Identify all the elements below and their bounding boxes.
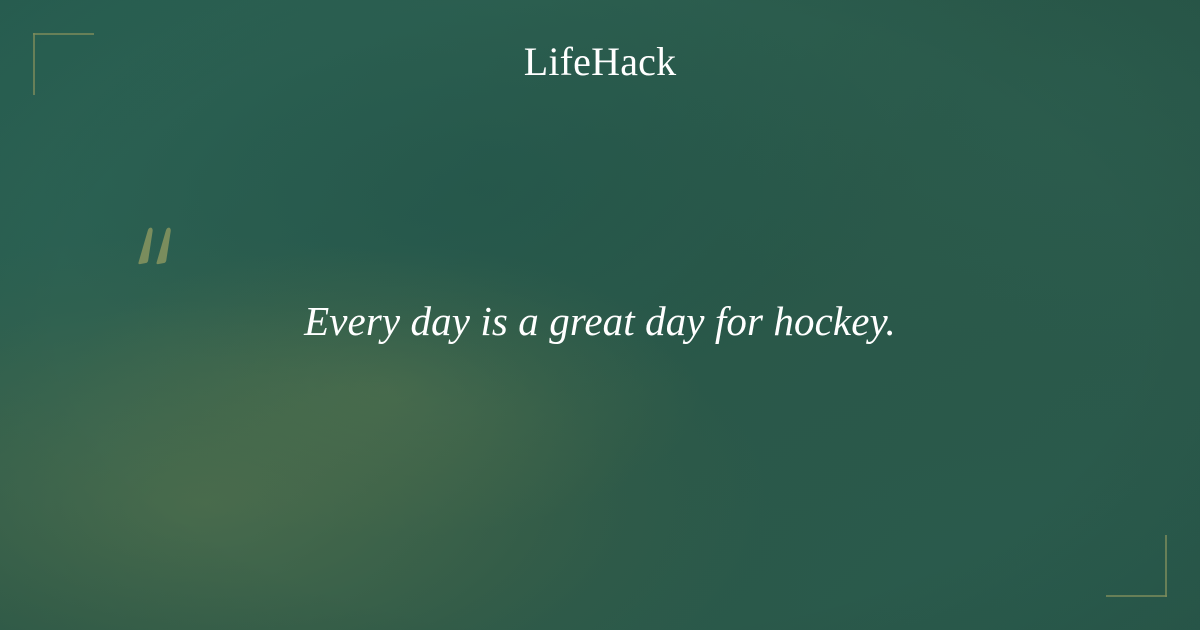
corner-bracket-bottom-right-horizontal-arm	[1106, 595, 1167, 597]
quote-card: LifeHack Every day is a great day for ho…	[0, 0, 1200, 630]
corner-bracket-bottom-right	[1106, 535, 1167, 597]
double-quote-mark-icon	[124, 208, 194, 278]
corner-bracket-bottom-right-vertical-arm	[1165, 535, 1167, 597]
corner-bracket-top-left-horizontal-arm	[33, 33, 94, 35]
quote-text: Every day is a great day for hockey.	[100, 294, 1100, 348]
brand-logo: LifeHack	[0, 39, 1200, 85]
